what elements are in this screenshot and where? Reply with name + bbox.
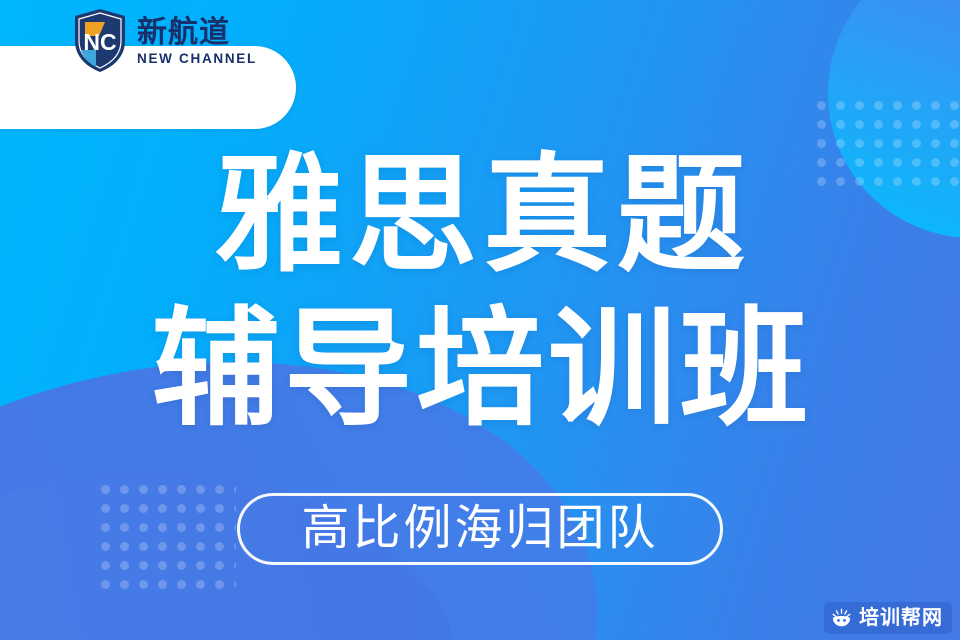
headline-block: 雅思真题 辅导培训班 [0, 152, 960, 434]
nc-shield-icon: NC [72, 8, 128, 74]
watermark: 培训帮网 [824, 602, 952, 634]
watermark-text: 培训帮网 [859, 608, 943, 628]
brand-name-en: NEW CHANNEL [137, 50, 257, 68]
subtitle-text: 高比例海归团队 [301, 505, 658, 553]
headline-line-2: 辅导培训班 [0, 306, 960, 434]
brand-name-cn: 新航道 [137, 17, 230, 48]
svg-text:NC: NC [83, 29, 116, 55]
headline-line-1: 雅思真题 [0, 152, 960, 280]
sun-face-icon [831, 608, 852, 629]
promo-banner: NC 新航道 NEW CHANNEL 雅思真题 辅导培训班 高比例海归团队 [0, 0, 960, 640]
brand-wordmark: 新航道 NEW CHANNEL [137, 15, 257, 68]
subtitle-pill: 高比例海归团队 [237, 493, 723, 565]
dot-grid-decor-bottom-left [96, 480, 236, 596]
brand-logo[interactable]: NC 新航道 NEW CHANNEL [72, 8, 257, 74]
